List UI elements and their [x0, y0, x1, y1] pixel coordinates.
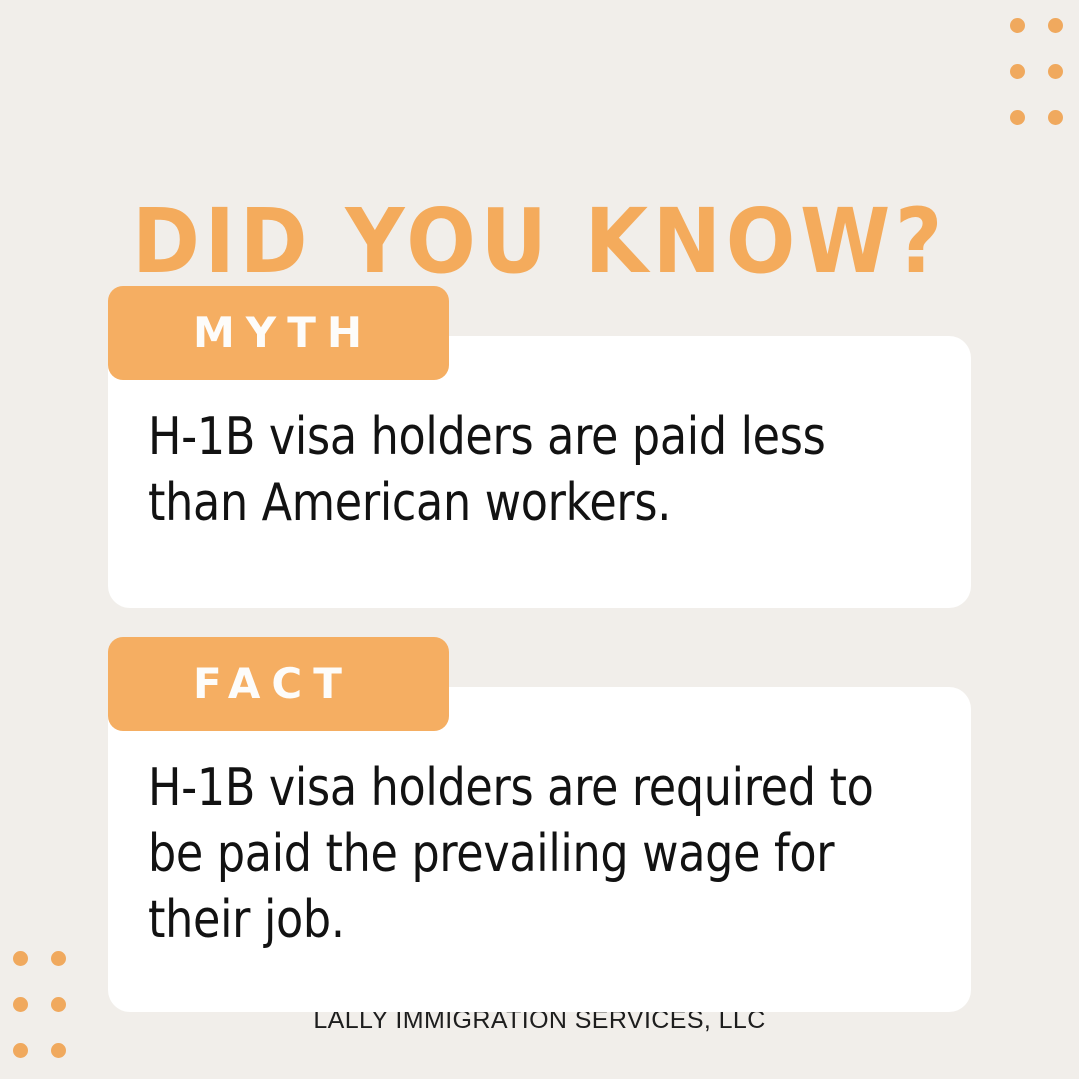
fact-badge: FACT: [108, 637, 449, 731]
dot-icon: [1010, 110, 1025, 125]
dot-icon: [51, 951, 66, 966]
dot-icon: [51, 1043, 66, 1058]
dot-icon: [1010, 64, 1025, 79]
dot-icon: [1048, 18, 1063, 33]
myth-badge: MYTH: [108, 286, 449, 380]
dot-grid-icon-top-right: [1010, 18, 1066, 128]
fact-body-text: H-1B visa holders are required to be pai…: [148, 755, 884, 953]
page-title: DID YOU KNOW?: [43, 193, 1036, 289]
fact-card: H-1B visa holders are required to be pai…: [108, 687, 971, 1012]
poster-canvas: DID YOU KNOW? MYTH H-1B visa holders are…: [0, 0, 1079, 1079]
dot-icon: [1048, 64, 1063, 79]
dot-icon: [13, 951, 28, 966]
myth-block: MYTH H-1B visa holders are paid less tha…: [108, 286, 971, 608]
dot-icon: [1010, 18, 1025, 33]
myth-body-text: H-1B visa holders are paid less than Ame…: [148, 404, 884, 536]
fact-block: FACT H-1B visa holders are required to b…: [108, 637, 971, 1012]
dot-icon: [1048, 110, 1063, 125]
dot-icon: [13, 1043, 28, 1058]
